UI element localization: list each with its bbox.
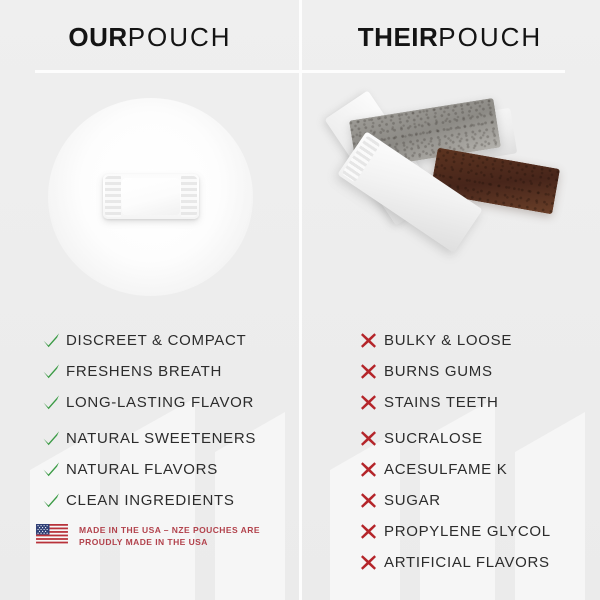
- comparison-infographic: OURPOUCH DISCREET & COMPACT: [0, 0, 600, 600]
- list-item: BURNS GUMS: [360, 357, 600, 386]
- green-check-icon: [42, 461, 66, 478]
- list-item: SUGAR: [360, 486, 600, 515]
- red-x-icon: [360, 492, 384, 509]
- red-x-icon: [360, 332, 384, 349]
- list-item-label: CLEAN INGREDIENTS: [66, 492, 235, 509]
- list-item-label: ACESULFAME K: [384, 461, 507, 478]
- list-item-label: DISCREET & COMPACT: [66, 332, 246, 349]
- title-strong-their: THEIR: [358, 22, 439, 52]
- column-their-pouch: THEIRPOUCH BULKY & LOOSE: [300, 0, 600, 600]
- list-item: NATURAL FLAVORS: [42, 455, 300, 484]
- their-drawbacks-group-2: SUCRALOSE ACESULFAME K SUGAR: [360, 424, 600, 579]
- list-item-label: STAINS TEETH: [384, 394, 499, 411]
- their-drawbacks-group-1: BULKY & LOOSE BURNS GUMS STAINS TEETH: [360, 326, 600, 419]
- list-item: ARTIFICIAL FLAVORS: [360, 548, 600, 577]
- list-item-label: NATURAL SWEETENERS: [66, 430, 256, 447]
- our-benefits-group-1: DISCREET & COMPACT FRESHENS BREATH LONG-…: [42, 326, 300, 419]
- green-check-icon: [42, 394, 66, 411]
- their-pouch-image: [300, 92, 600, 302]
- made-in-usa-badge: MADE IN THE USA – NZE POUCHES ARE PROUDL…: [36, 524, 260, 549]
- list-item-label: LONG-LASTING FLAVOR: [66, 394, 254, 411]
- list-item: FRESHENS BREATH: [42, 357, 300, 386]
- green-check-icon: [42, 363, 66, 380]
- red-x-icon: [360, 554, 384, 571]
- list-item: PROPYLENE GLYCOL: [360, 517, 600, 546]
- our-pouch-image: [0, 92, 300, 302]
- title-light-pouch: POUCH: [438, 22, 542, 52]
- list-item-label: NATURAL FLAVORS: [66, 461, 218, 478]
- title-strong-our: OUR: [68, 22, 127, 52]
- list-item: SUCRALOSE: [360, 424, 600, 453]
- list-item: CLEAN INGREDIENTS: [42, 486, 300, 515]
- their-pouch-title: THEIRPOUCH: [300, 22, 600, 53]
- usa-flag-icon: [36, 524, 68, 545]
- pouch-face: [122, 178, 180, 215]
- list-item-label: SUGAR: [384, 492, 441, 509]
- green-check-icon: [42, 332, 66, 349]
- red-x-icon: [360, 394, 384, 411]
- list-item: BULKY & LOOSE: [360, 326, 600, 355]
- title-light-pouch: POUCH: [128, 22, 232, 52]
- red-x-icon: [360, 363, 384, 380]
- list-item-label: BURNS GUMS: [384, 363, 493, 380]
- list-item: DISCREET & COMPACT: [42, 326, 300, 355]
- list-item: LONG-LASTING FLAVOR: [42, 388, 300, 417]
- green-check-icon: [42, 430, 66, 447]
- red-x-icon: [360, 461, 384, 478]
- list-item-label: FRESHENS BREATH: [66, 363, 222, 380]
- list-item-label: PROPYLENE GLYCOL: [384, 523, 551, 540]
- our-pouch-title: OURPOUCH: [0, 22, 300, 53]
- list-item-label: SUCRALOSE: [384, 430, 483, 447]
- column-our-pouch: OURPOUCH DISCREET & COMPACT: [0, 0, 300, 600]
- white-nicotine-pouch-icon: [103, 174, 199, 219]
- list-item: STAINS TEETH: [360, 388, 600, 417]
- list-item-label: BULKY & LOOSE: [384, 332, 512, 349]
- made-in-usa-text: MADE IN THE USA – NZE POUCHES ARE PROUDL…: [79, 524, 260, 549]
- red-x-icon: [360, 430, 384, 447]
- list-item-label: ARTIFICIAL FLAVORS: [384, 554, 550, 571]
- red-x-icon: [360, 523, 384, 540]
- list-item: NATURAL SWEETENERS: [42, 424, 300, 453]
- list-item: ACESULFAME K: [360, 455, 600, 484]
- green-check-icon: [42, 492, 66, 509]
- our-benefits-group-2: NATURAL SWEETENERS NATURAL FLAVORS CLEAN…: [42, 424, 300, 517]
